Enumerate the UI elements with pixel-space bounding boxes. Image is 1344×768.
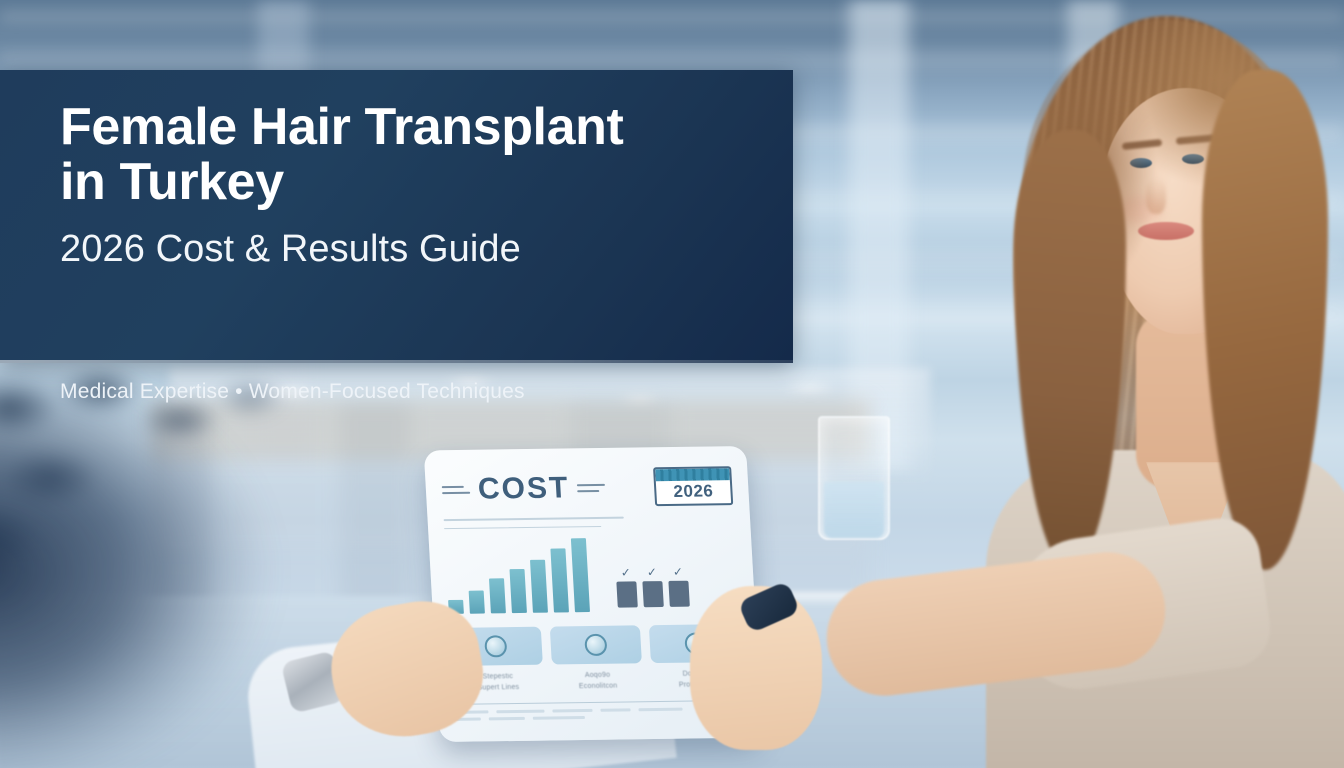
feature-card[interactable]: Aoqo9oEconolitcon [549, 625, 643, 692]
chart-bar [571, 538, 590, 612]
headline-line-2: in Turkey [60, 155, 760, 210]
panel-divider [0, 360, 793, 363]
check-icon: ✓ [673, 566, 684, 578]
chart-bar [510, 569, 527, 613]
woman-portrait [996, 10, 1344, 768]
header-dashes-right-icon [577, 483, 605, 491]
chart-bar [469, 590, 485, 614]
check-item: ✓ [616, 566, 638, 607]
year-badge: 2026 [653, 466, 733, 506]
year-badge-label: 2026 [656, 480, 731, 504]
feature-circle-icon [484, 635, 507, 657]
feature-card-caption: Aoqo9oEconolitcon [552, 670, 644, 692]
check-item: ✓ [642, 566, 664, 607]
check-icon: ✓ [620, 566, 631, 578]
chart-bar [530, 560, 548, 613]
check-item: ✓ [668, 566, 690, 607]
feature-card-tile [549, 625, 642, 664]
tablet-rules [444, 515, 735, 529]
header-dashes-left-icon [442, 485, 470, 493]
hero-banner: COST 2026 ✓ ✓ ✓ [0, 0, 1344, 768]
check-icon: ✓ [647, 566, 658, 578]
year-badge-bar-icon [655, 468, 730, 481]
tablet-title: COST [477, 471, 570, 506]
water-glass-liquid [824, 482, 884, 538]
cost-bar-chart [445, 534, 590, 614]
headline-line-1: Female Hair Transplant [60, 100, 760, 155]
checklist-group: ✓ ✓ ✓ [616, 566, 690, 608]
chart-bar [550, 548, 569, 612]
tablet-header: COST 2026 [441, 466, 733, 509]
chart-bar [489, 578, 506, 613]
headline-panel: Female Hair Transplant in Turkey 2026 Co… [0, 70, 793, 363]
feature-circle-icon [584, 634, 607, 656]
tagline: Medical Expertise • Women-Focused Techni… [60, 380, 525, 404]
subheadline: 2026 Cost & Results Guide [60, 228, 760, 271]
